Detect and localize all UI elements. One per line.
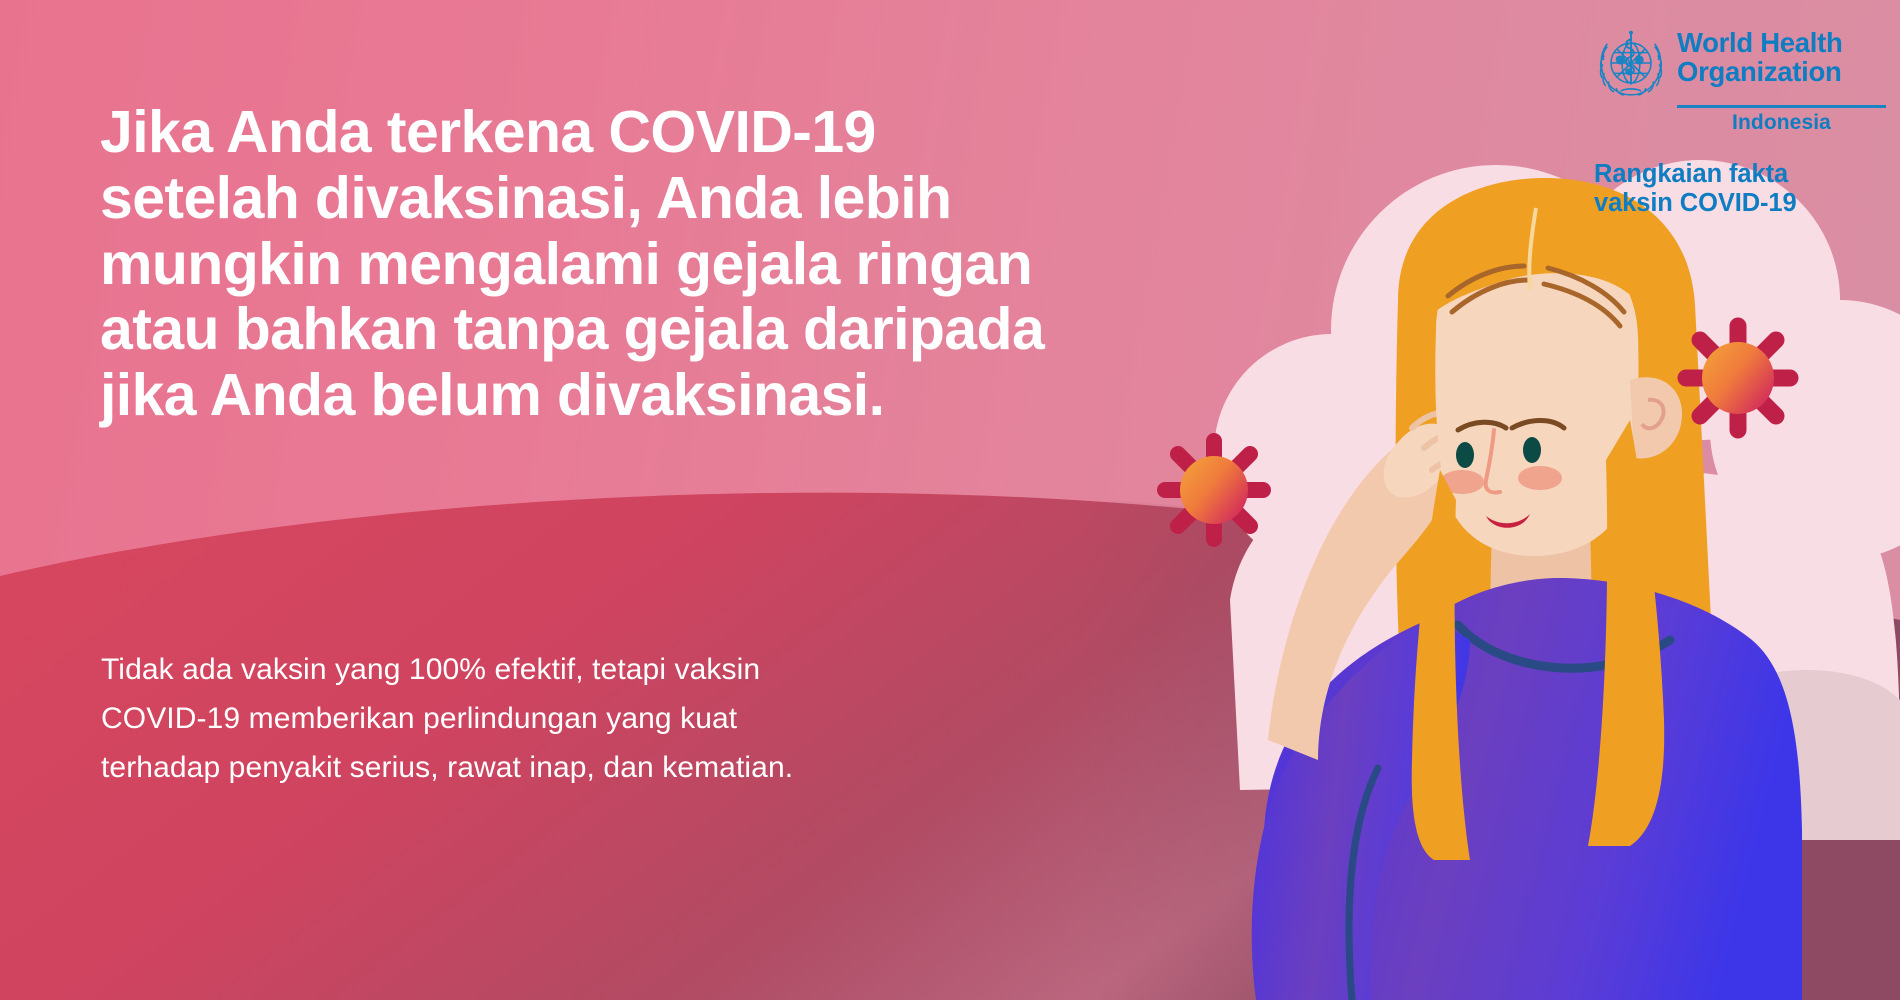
- who-emblem-icon: [1594, 26, 1668, 100]
- headline-line-2: setelah divaksinasi, Anda lebih: [100, 166, 1110, 232]
- tagline-line-2: vaksin COVID-19: [1594, 189, 1886, 219]
- body-line-3: terhadap penyakit serius, rawat inap, da…: [101, 744, 961, 793]
- who-divider: [1677, 105, 1886, 108]
- campaign-tagline: Rangkaian fakta vaksin COVID-19: [1594, 160, 1886, 220]
- who-name-line-1: World Health: [1677, 28, 1842, 57]
- who-logo-block: World Health Organization Indonesia Rang…: [1594, 26, 1886, 219]
- who-name-line-2: Organization: [1677, 57, 1842, 86]
- eye-left: [1456, 442, 1474, 468]
- poster-canvas: Jika Anda terkena COVID-19 setelah divak…: [0, 0, 1900, 1000]
- body-line-2: COVID-19 memberikan perlindungan yang ku…: [101, 695, 961, 744]
- headline-line-4: atau bahkan tanpa gejala daripada: [100, 297, 1110, 363]
- headline-line-3: mungkin mengalami gejala ringan: [100, 232, 1110, 298]
- virus-particle-left: [1165, 441, 1263, 539]
- body-copy: Tidak ada vaksin yang 100% efektif, teta…: [101, 646, 961, 793]
- body-line-1: Tidak ada vaksin yang 100% efektif, teta…: [101, 646, 961, 695]
- who-country-label: Indonesia: [1677, 111, 1886, 135]
- headline-line-1: Jika Anda terkena COVID-19: [100, 100, 1110, 166]
- blush-right: [1518, 466, 1562, 490]
- headline: Jika Anda terkena COVID-19 setelah divak…: [100, 100, 1110, 429]
- headline-line-5: jika Anda belum divaksinasi.: [100, 363, 1110, 429]
- eye-right: [1523, 437, 1541, 463]
- who-wordmark: World Health Organization: [1677, 26, 1842, 86]
- virus-particle-right: [1686, 326, 1790, 430]
- tagline-line-1: Rangkaian fakta: [1594, 160, 1886, 190]
